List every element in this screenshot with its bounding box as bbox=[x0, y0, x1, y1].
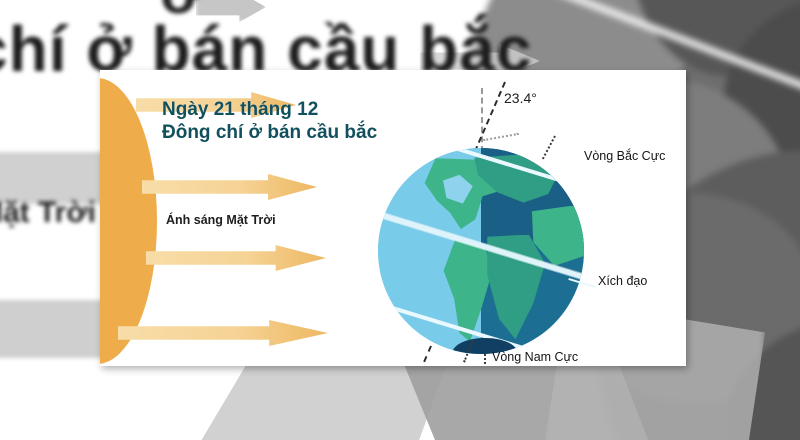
axial-tilt-label: 23.4° bbox=[504, 90, 537, 106]
sunlight-ray-arrow-icon bbox=[146, 245, 326, 271]
infographic-card: Ngày 21 tháng 12 Đông chí ở bán cầu bắc … bbox=[100, 70, 686, 366]
screenshot-stage: ở chí ở bán cầu bắc Mặt Trời Ngày 21 thá… bbox=[0, 0, 800, 440]
sunlight-ray-arrow-icon bbox=[142, 174, 317, 200]
card-title-line2: Đông chí ở bán cầu bắc bbox=[162, 121, 377, 144]
sunlight-label: Ánh sáng Mặt Trời bbox=[166, 213, 276, 227]
earth-globe bbox=[378, 148, 584, 354]
card-title: Ngày 21 tháng 12 Đông chí ở bán cầu bắc bbox=[162, 98, 377, 144]
sunlight-ray-arrow-icon bbox=[118, 320, 328, 346]
label-arctic-circle: Vòng Bắc Cực bbox=[584, 149, 665, 163]
label-equator: Xích đạo bbox=[598, 274, 647, 288]
background-sun-text: Mặt Trời bbox=[0, 196, 96, 230]
angle-arc bbox=[483, 133, 519, 141]
sun-icon bbox=[100, 78, 157, 364]
label-antarctic-circle: Vòng Nam Cực bbox=[492, 350, 578, 364]
vertical-reference-axis-line bbox=[481, 88, 483, 152]
background-grey-band bbox=[0, 300, 108, 358]
earth-axis-line bbox=[474, 82, 506, 153]
card-title-line1: Ngày 21 tháng 12 bbox=[162, 98, 377, 121]
background-ray-cone bbox=[120, 355, 450, 440]
